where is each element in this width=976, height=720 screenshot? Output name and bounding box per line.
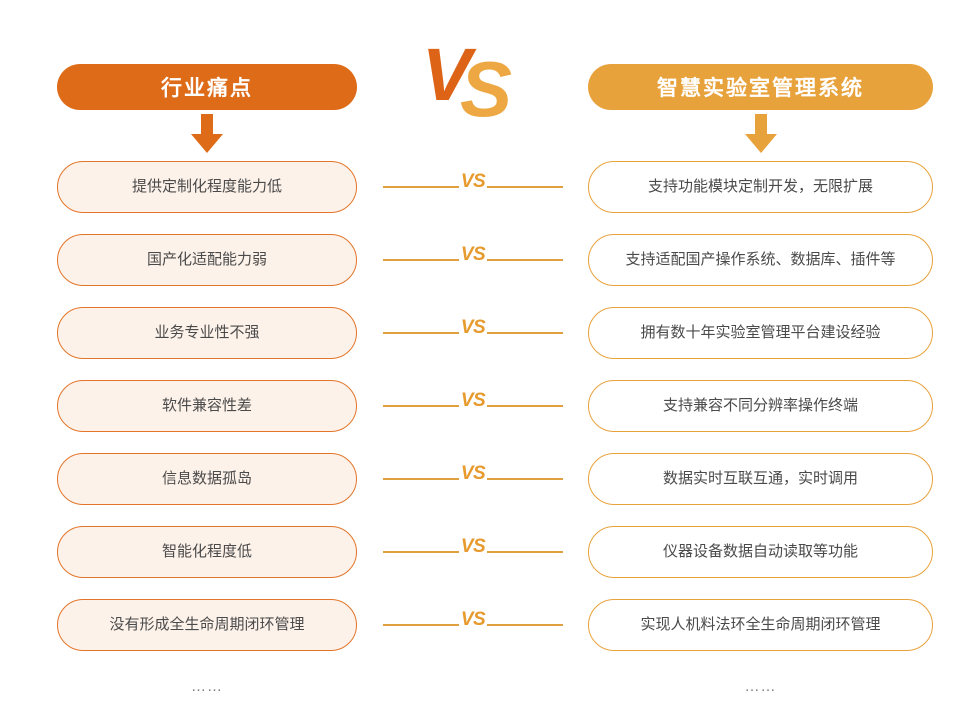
header-left-pain-points: 行业痛点	[57, 64, 357, 110]
connector-vs-label: VS	[459, 244, 487, 266]
connector-line-left	[383, 551, 459, 553]
pain-point-pill: 没有形成全生命周期闭环管理	[57, 599, 357, 651]
comparison-board: V S 行业痛点 智慧实验室管理系统 提供定制化程度能力低 VS 支持功能模块定…	[0, 0, 976, 720]
solution-pill: 数据实时互联互通，实时调用	[588, 453, 933, 505]
comparison-row: 提供定制化程度能力低 VS 支持功能模块定制开发，无限扩展	[0, 161, 976, 234]
connector-line-left	[383, 332, 459, 334]
connector-line-right	[487, 405, 563, 407]
ellipsis-left: ……	[57, 678, 357, 695]
connector-vs-label: VS	[459, 390, 487, 412]
vs-connector: VS	[383, 526, 563, 578]
pain-point-pill: 智能化程度低	[57, 526, 357, 578]
vs-connector: VS	[383, 380, 563, 432]
solution-pill: 支持适配国产操作系统、数据库、插件等	[588, 234, 933, 286]
connector-line-left	[383, 624, 459, 626]
arrow-down-icon-right	[744, 114, 778, 154]
vs-connector: VS	[383, 307, 563, 359]
connector-line-left	[383, 259, 459, 261]
comparison-row: 业务专业性不强 VS 拥有数十年实验室管理平台建设经验	[0, 307, 976, 380]
connector-vs-label: VS	[459, 171, 487, 193]
vs-connector: VS	[383, 161, 563, 213]
solution-pill: 支持兼容不同分辨率操作终端	[588, 380, 933, 432]
connector-vs-label: VS	[459, 317, 487, 339]
solution-pill: 实现人机料法环全生命周期闭环管理	[588, 599, 933, 651]
svg-text:V: V	[422, 34, 477, 116]
comparison-row: 智能化程度低 VS 仪器设备数据自动读取等功能	[0, 526, 976, 599]
vs-connector: VS	[383, 234, 563, 286]
comparison-row: 没有形成全生命周期闭环管理 VS 实现人机料法环全生命周期闭环管理	[0, 599, 976, 672]
comparison-row: 国产化适配能力弱 VS 支持适配国产操作系统、数据库、插件等	[0, 234, 976, 307]
pain-point-pill: 国产化适配能力弱	[57, 234, 357, 286]
solution-pill: 支持功能模块定制开发，无限扩展	[588, 161, 933, 213]
vs-connector: VS	[383, 599, 563, 651]
connector-line-right	[487, 478, 563, 480]
vs-connector: VS	[383, 453, 563, 505]
connector-vs-label: VS	[459, 536, 487, 558]
pain-point-pill: 软件兼容性差	[57, 380, 357, 432]
pain-point-pill: 业务专业性不强	[57, 307, 357, 359]
ellipsis-right: ……	[588, 678, 933, 695]
connector-line-right	[487, 624, 563, 626]
comparison-rows: 提供定制化程度能力低 VS 支持功能模块定制开发，无限扩展 国产化适配能力弱 V…	[0, 161, 976, 712]
vs-logo-icon: V S	[418, 34, 558, 124]
connector-line-left	[383, 405, 459, 407]
connector-vs-label: VS	[459, 463, 487, 485]
comparison-row: 信息数据孤岛 VS 数据实时互联互通，实时调用	[0, 453, 976, 526]
solution-pill: 仪器设备数据自动读取等功能	[588, 526, 933, 578]
connector-line-right	[487, 332, 563, 334]
solution-pill: 拥有数十年实验室管理平台建设经验	[588, 307, 933, 359]
connector-line-left	[383, 186, 459, 188]
connector-line-right	[487, 259, 563, 261]
svg-text:S: S	[460, 45, 512, 124]
connector-line-left	[383, 478, 459, 480]
ellipsis-row: …… ……	[0, 672, 976, 712]
connector-line-right	[487, 551, 563, 553]
connector-vs-label: VS	[459, 609, 487, 631]
comparison-row: 软件兼容性差 VS 支持兼容不同分辨率操作终端	[0, 380, 976, 453]
connector-line-right	[487, 186, 563, 188]
header-right-solution: 智慧实验室管理系统	[588, 64, 933, 110]
pain-point-pill: 信息数据孤岛	[57, 453, 357, 505]
pain-point-pill: 提供定制化程度能力低	[57, 161, 357, 213]
arrow-down-icon-left	[190, 114, 224, 154]
